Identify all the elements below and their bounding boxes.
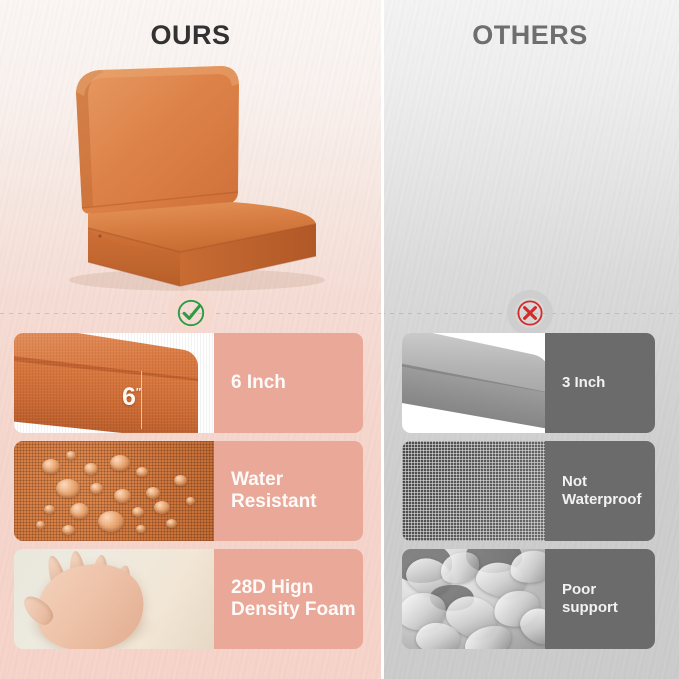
header-ours: OURS <box>0 20 381 51</box>
feature-card-poor-support[interactable]: Poor support <box>402 549 655 649</box>
feature-image-3-inch <box>402 333 545 433</box>
feature-label-poor-support: Poor support <box>545 549 655 649</box>
feature-card-water-resistant[interactable]: Water Resistant <box>14 441 363 541</box>
feature-label-6-inch: 6 Inch <box>214 333 363 433</box>
feature-card-6-inch[interactable]: 6″ 6 Inch <box>14 333 363 433</box>
feature-image-6-inch: 6″ <box>14 333 214 433</box>
feature-label-water-resistant: Water Resistant <box>214 441 363 541</box>
feature-label-3-inch: 3 Inch <box>545 333 655 433</box>
header-others-label: OTHERS <box>472 20 588 50</box>
header-others: OTHERS <box>381 20 679 51</box>
feature-image-not-waterproof <box>402 441 545 541</box>
feature-label-not-waterproof: Not Waterproof <box>545 441 655 541</box>
badge-row-ours <box>0 297 381 329</box>
x-circle-icon <box>515 298 545 328</box>
feature-list-ours: 6″ 6 Inch <box>14 333 363 657</box>
feature-card-3-inch[interactable]: 3 Inch <box>402 333 655 433</box>
comparison-infographic: OURS <box>0 0 679 679</box>
feature-card-not-waterproof[interactable]: Not Waterproof <box>402 441 655 541</box>
measure-label: 6″ <box>122 383 141 412</box>
feature-image-foam <box>14 549 214 649</box>
check-circle-icon <box>176 298 206 328</box>
badge-row-others <box>381 297 679 329</box>
hero-image-ours <box>42 56 342 294</box>
feature-image-water-resistant <box>14 441 214 541</box>
panel-divider <box>381 0 384 679</box>
header-ours-label: OURS <box>150 20 230 50</box>
feature-card-foam[interactable]: 28D Hign Density Foam <box>14 549 363 649</box>
feature-image-poor-support <box>402 549 545 649</box>
feature-list-others: 3 Inch Not Waterproof <box>402 333 655 657</box>
feature-label-foam: 28D Hign Density Foam <box>214 549 363 649</box>
